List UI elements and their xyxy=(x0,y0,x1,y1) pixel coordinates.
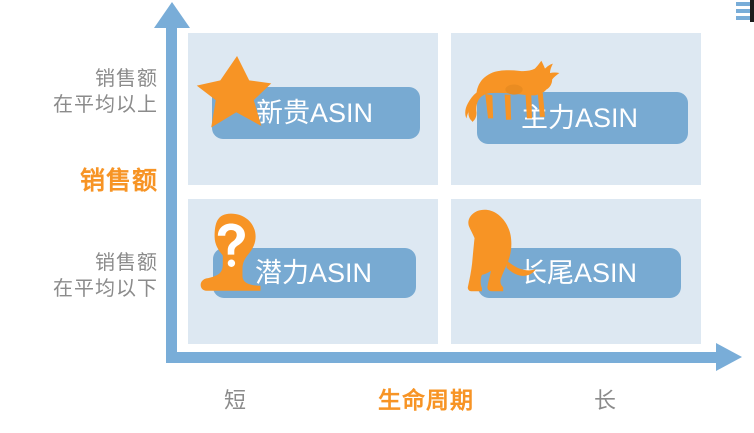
x-axis-line xyxy=(166,352,718,363)
x-axis-label-high: 长 xyxy=(594,390,616,412)
y-axis-label-top-line1: 销售额 xyxy=(0,66,158,92)
star-icon xyxy=(196,53,272,129)
dog-icon xyxy=(466,207,542,297)
y-axis-label-bottom-line1: 销售额 xyxy=(0,250,158,276)
arrow-up-icon xyxy=(154,2,190,28)
quadrant-label-top-left-text: 新贵ASIN xyxy=(256,100,373,127)
y-axis-label-top: 销售额 在平均以上 xyxy=(0,66,158,119)
cow-icon xyxy=(462,55,566,127)
y-axis-label-bottom: 销售额 在平均以下 xyxy=(0,250,158,303)
y-axis-label-top-line2: 在平均以上 xyxy=(0,92,158,118)
quadrant-matrix-diagram: 新贵ASIN 主力ASIN 潜力ASIN 长尾ASIN xyxy=(0,0,754,433)
y-axis-title: 销售额 xyxy=(0,169,158,194)
y-axis-label-bottom-line2: 在平均以下 xyxy=(0,276,158,302)
x-axis-title: 生命周期 xyxy=(378,389,474,412)
arrow-right-icon xyxy=(716,343,742,371)
y-axis-line xyxy=(166,26,177,363)
cropped-list-icon xyxy=(732,0,754,22)
question-head-icon xyxy=(198,212,264,294)
x-axis-label-low: 短 xyxy=(224,390,246,412)
quadrant-label-bottom-left-text: 潜力ASIN xyxy=(255,260,372,287)
